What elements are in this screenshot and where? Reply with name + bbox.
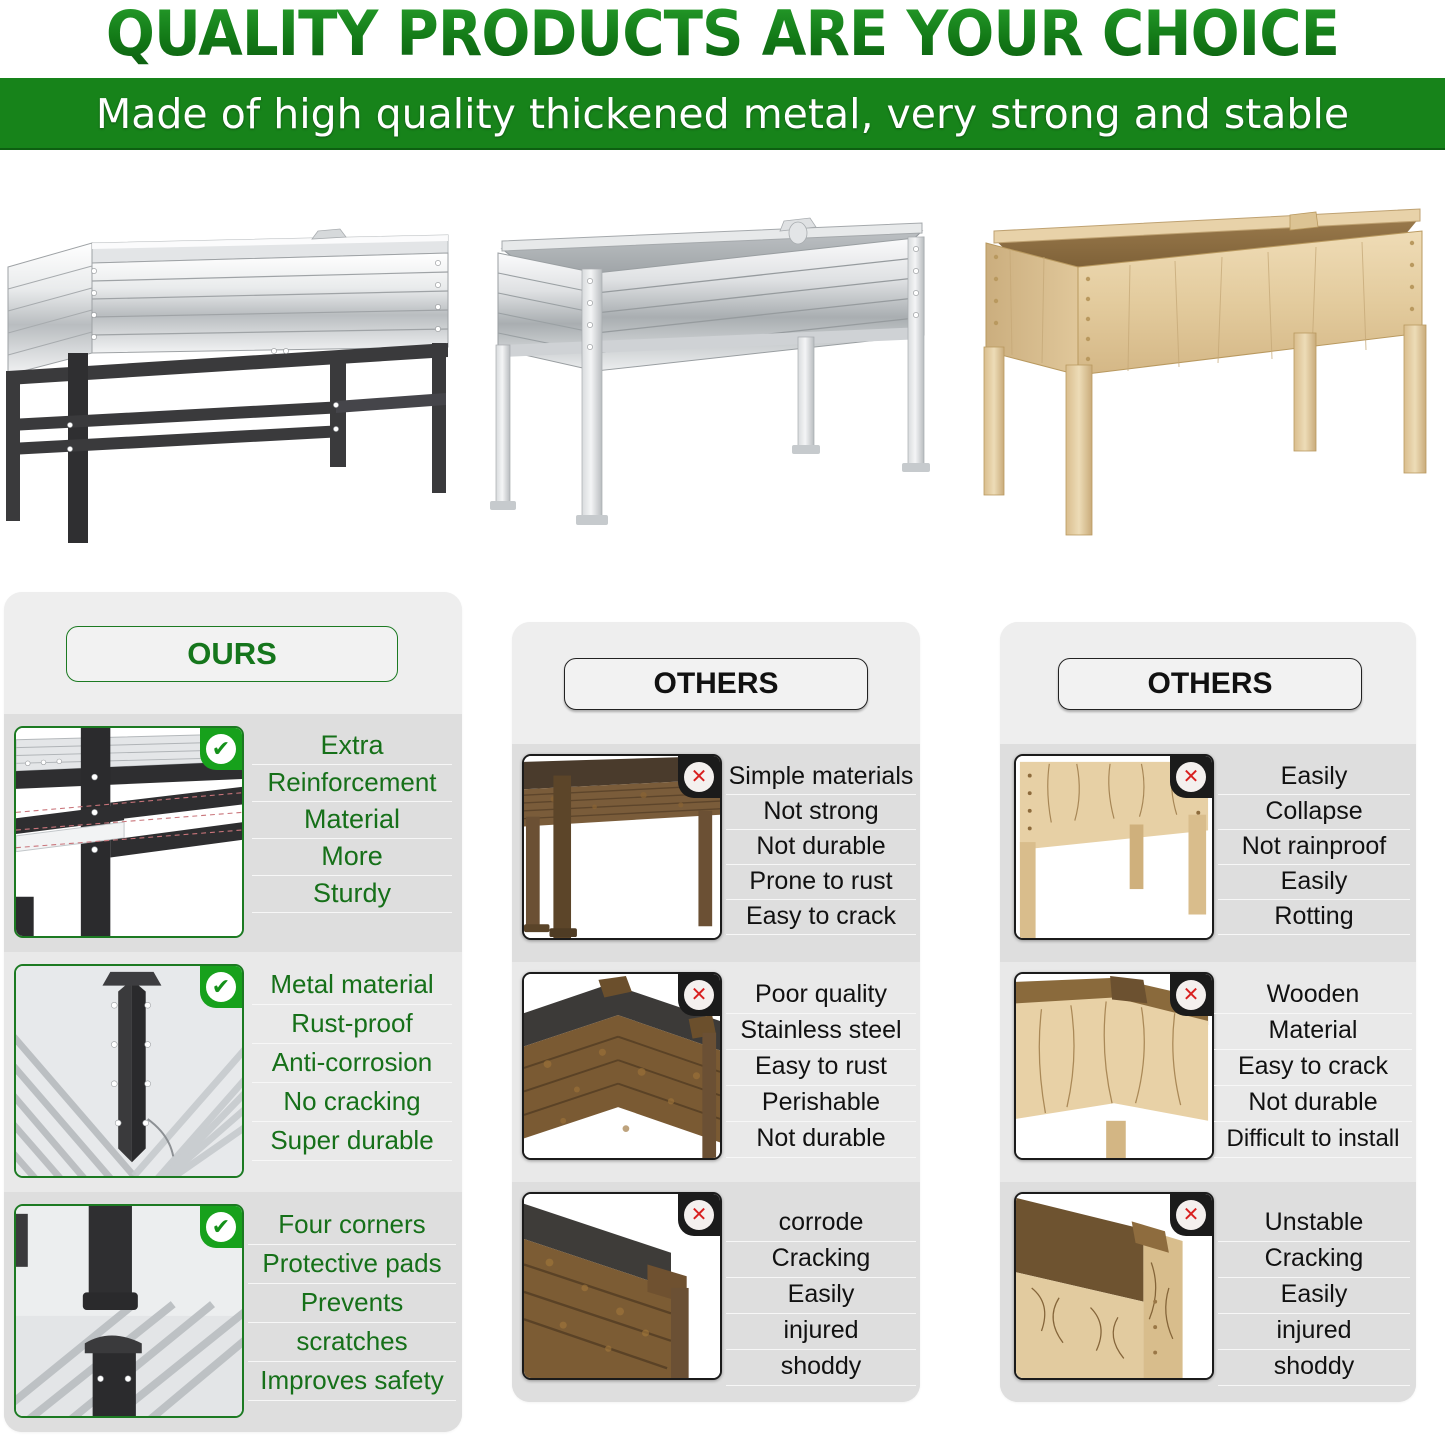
panel-body-others-metal: ✕ Simple materials Not strong Not durabl… [512, 744, 920, 1402]
drawback-block: ✕ Wooden Material Easy to crack Not dura… [1000, 962, 1416, 1182]
cross-icon: ✕ [684, 980, 714, 1010]
product-image-metal-silver-legs [480, 175, 950, 585]
cross-badge: ✕ [678, 1194, 720, 1236]
drawback-line: shoddy [726, 1350, 916, 1386]
drawback-line: Not durable [726, 1122, 916, 1158]
drawback-text-list: Simple materials Not strong Not durable … [726, 760, 916, 935]
check-icon: ✔ [206, 972, 236, 1002]
cross-badge: ✕ [1170, 756, 1212, 798]
cross-icon: ✕ [1176, 980, 1206, 1010]
cross-icon: ✕ [684, 762, 714, 792]
feature-block: ✔ Extra Reinforcement Material More Stur… [4, 714, 462, 952]
thumbnail-rusty-bed: ✕ [522, 972, 722, 1160]
feature-line: Four corners [248, 1206, 456, 1245]
drawback-line: Material [1214, 1014, 1412, 1050]
drawback-line: Easily [726, 1278, 916, 1314]
drawback-line: Prone to rust [726, 865, 916, 900]
cross-badge: ✕ [1170, 1194, 1212, 1236]
cross-icon: ✕ [1176, 762, 1206, 792]
check-badge: ✔ [200, 966, 242, 1008]
panel-head-others-metal: OTHERS [512, 622, 920, 744]
feature-line: More [252, 839, 452, 876]
drawback-block: ✕ Simple materials Not strong Not durabl… [512, 744, 920, 962]
panel-head-others-wood: OTHERS [1000, 622, 1416, 744]
thumbnail-rusty-corner: ✕ [522, 1192, 722, 1380]
drawback-line: Simple materials [726, 760, 916, 795]
drawback-line: Perishable [726, 1086, 916, 1122]
thumbnail-rusty-frame: ✕ [522, 754, 722, 940]
panel-heading-others-metal: OTHERS [564, 658, 868, 710]
panel-heading-others-wood: OTHERS [1058, 658, 1362, 710]
drawback-line: corrode [726, 1206, 916, 1242]
feature-line: Prevents [248, 1284, 456, 1323]
thumbnail-cracked-wood-box: ✕ [1014, 972, 1214, 1160]
thumbnail-reinforcement: ✔ [14, 726, 244, 938]
drawback-line: Easy to crack [1214, 1050, 1412, 1086]
feature-line: Anti-corrosion [252, 1044, 452, 1083]
subtitle-banner: Made of high quality thickened metal, ve… [0, 78, 1445, 150]
thumbnail-split-wood-corner: ✕ [1014, 1192, 1214, 1380]
drawback-line: Poor quality [726, 978, 916, 1014]
feature-text-list: Extra Reinforcement Material More Sturdy [252, 728, 452, 913]
feature-line: Protective pads [248, 1245, 456, 1284]
header-banner: QUALITY PRODUCTS ARE YOUR CHOICE Made of… [0, 0, 1445, 160]
panel-body-ours: ✔ Extra Reinforcement Material More Stur… [4, 714, 462, 1432]
product-image-wooden-bed [960, 175, 1445, 585]
drawback-block: ✕ Poor quality Stainless steel Easy to r… [512, 962, 920, 1182]
drawback-text-list: corrode Cracking Easily injured shoddy [726, 1206, 916, 1386]
product-image-metal-black-legs [0, 175, 470, 585]
feature-line: Sturdy [252, 876, 452, 913]
feature-line: scratches [248, 1323, 456, 1362]
drawback-line: Collapse [1218, 795, 1410, 830]
drawback-line: shoddy [1218, 1350, 1410, 1386]
feature-line: Super durable [252, 1122, 452, 1161]
subtitle-text: Made of high quality thickened metal, ve… [0, 78, 1445, 150]
feature-line: Improves safety [248, 1362, 456, 1401]
drawback-line: Easily [1218, 1278, 1410, 1314]
drawback-line: injured [726, 1314, 916, 1350]
drawback-line: Difficult to install [1214, 1122, 1412, 1158]
drawback-line: Easily [1218, 760, 1410, 795]
drawback-block: ✕ Easily Collapse Not rainproof Easily R… [1000, 744, 1416, 962]
drawback-line: Not durable [726, 830, 916, 865]
drawback-block: ✕ corrode Cracking Easily injured shoddy [512, 1182, 920, 1402]
panel-head-ours: OURS [4, 592, 462, 714]
thumbnail-corner-joint: ✔ [14, 964, 244, 1178]
feature-line: No cracking [252, 1083, 452, 1122]
feature-block: ✔ Metal material Rust-proof Anti-corrosi… [4, 952, 462, 1192]
drawback-line: Not strong [726, 795, 916, 830]
cross-icon: ✕ [684, 1200, 714, 1230]
drawback-line: Cracking [726, 1242, 916, 1278]
check-badge: ✔ [200, 728, 242, 770]
drawback-line: Not rainproof [1218, 830, 1410, 865]
check-icon: ✔ [206, 1212, 236, 1242]
drawback-line: Unstable [1218, 1206, 1410, 1242]
drawback-line: injured [1218, 1314, 1410, 1350]
feature-text-list: Metal material Rust-proof Anti-corrosion… [252, 966, 452, 1161]
panel-heading-ours: OURS [66, 626, 398, 682]
drawback-text-list: Wooden Material Easy to crack Not durabl… [1214, 978, 1412, 1158]
cross-badge: ✕ [678, 974, 720, 1016]
drawback-line: Easy to rust [726, 1050, 916, 1086]
drawback-text-list: Unstable Cracking Easily injured shoddy [1218, 1206, 1410, 1386]
feature-line: Material [252, 802, 452, 839]
drawback-line: Wooden [1214, 978, 1412, 1014]
panel-body-others-wood: ✕ Easily Collapse Not rainproof Easily R… [1000, 744, 1416, 1402]
drawback-line: Stainless steel [726, 1014, 916, 1050]
check-icon: ✔ [206, 734, 236, 764]
page-title: QUALITY PRODUCTS ARE YOUR CHOICE [51, 0, 1395, 70]
comparison-panel-others-wood: OTHERS [1000, 622, 1416, 1402]
drawback-text-list: Easily Collapse Not rainproof Easily Rot… [1218, 760, 1410, 935]
hero-product-row [0, 175, 1445, 585]
feature-line: Reinforcement [252, 765, 452, 802]
drawback-line: Rotting [1218, 900, 1410, 935]
comparison-panel-ours: OURS [4, 592, 462, 1432]
thumbnail-cracked-wood-panel: ✕ [1014, 754, 1214, 940]
feature-line: Rust-proof [252, 1005, 452, 1044]
cross-badge: ✕ [1170, 974, 1212, 1016]
feature-line: Extra [252, 728, 452, 765]
drawback-line: Cracking [1218, 1242, 1410, 1278]
comparison-panel-others-metal: OTHERS [512, 622, 920, 1402]
feature-line: Metal material [252, 966, 452, 1005]
cross-badge: ✕ [678, 756, 720, 798]
drawback-line: Not durable [1214, 1086, 1412, 1122]
thumbnail-protective-pad: ✔ [14, 1204, 244, 1418]
cross-icon: ✕ [1176, 1200, 1206, 1230]
check-badge: ✔ [200, 1206, 242, 1248]
feature-block: ✔ Four corners Protective pads Prevents … [4, 1192, 462, 1432]
drawback-block: ✕ Unstable Cracking Easily injured shodd… [1000, 1182, 1416, 1402]
drawback-line: Easily [1218, 865, 1410, 900]
feature-text-list: Four corners Protective pads Prevents sc… [248, 1206, 456, 1401]
drawback-text-list: Poor quality Stainless steel Easy to rus… [726, 978, 916, 1158]
drawback-line: Easy to crack [726, 900, 916, 935]
